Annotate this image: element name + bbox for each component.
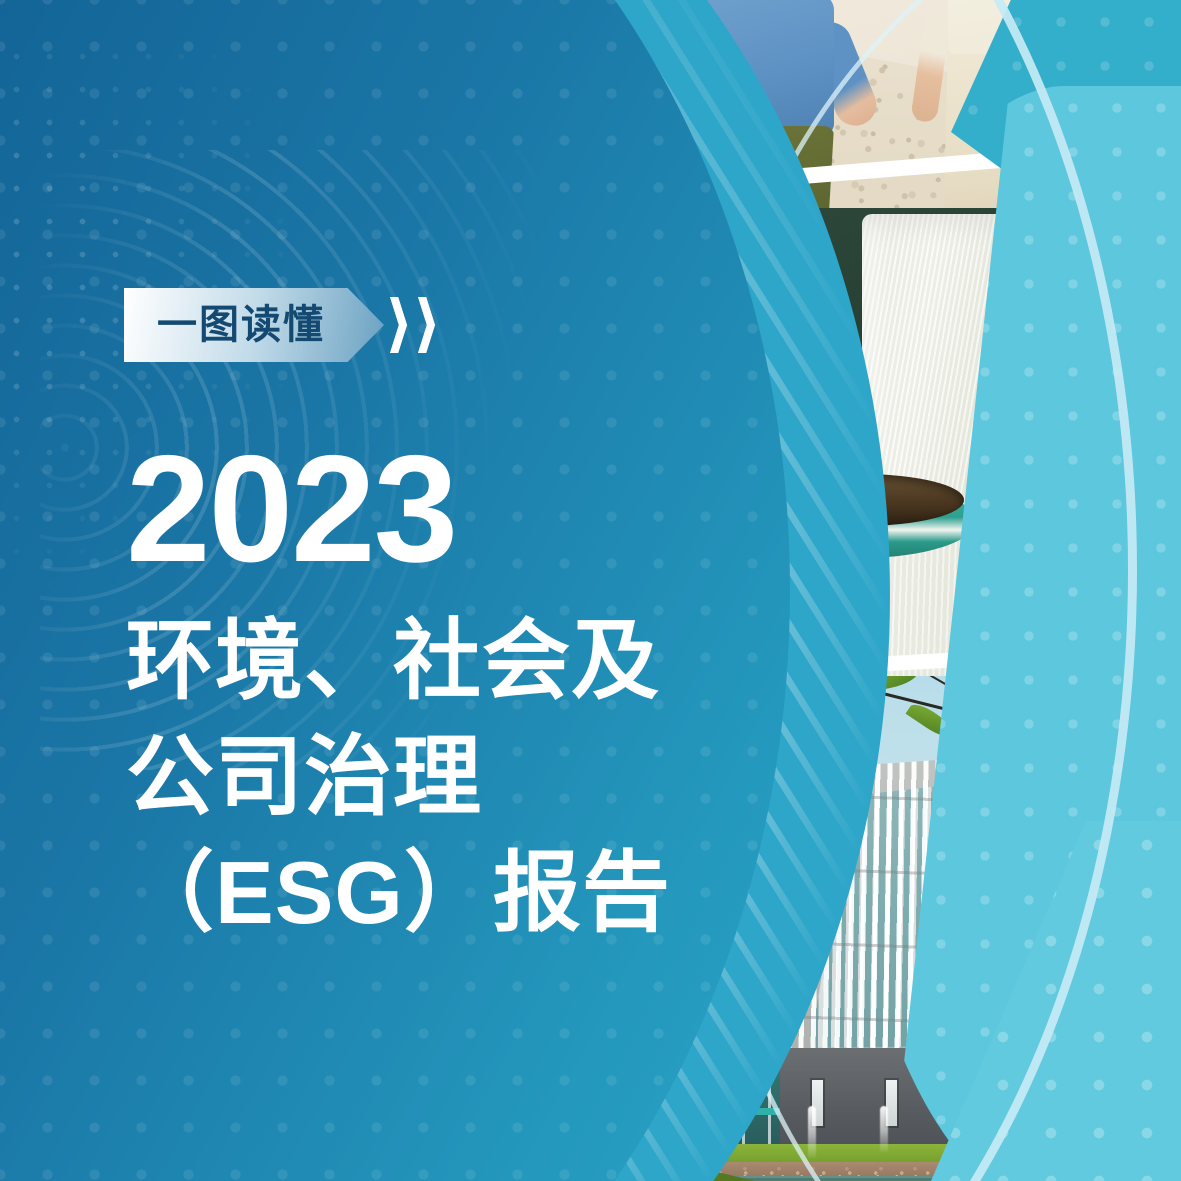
title-line-1: 环境、社会及 [126,603,726,719]
esg-report-cover-poster: 一图读懂 2023 环境、社会及 公司治理 （ESG）报告 [0,0,1181,1181]
chevron-right-icon [418,288,444,362]
poster-title-block: 2023 环境、社会及 公司治理 （ESG）报告 [126,432,726,952]
badge-label: 一图读懂 [157,305,351,345]
report-year: 2023 [126,432,726,587]
title-line-3: （ESG）报告 [126,835,726,951]
chevron-right-icon [390,288,416,362]
badge-bar: 一图读懂 [124,288,384,362]
title-line-2: 公司治理 [126,719,726,835]
read-at-a-glance-badge[interactable]: 一图读懂 [124,288,444,362]
